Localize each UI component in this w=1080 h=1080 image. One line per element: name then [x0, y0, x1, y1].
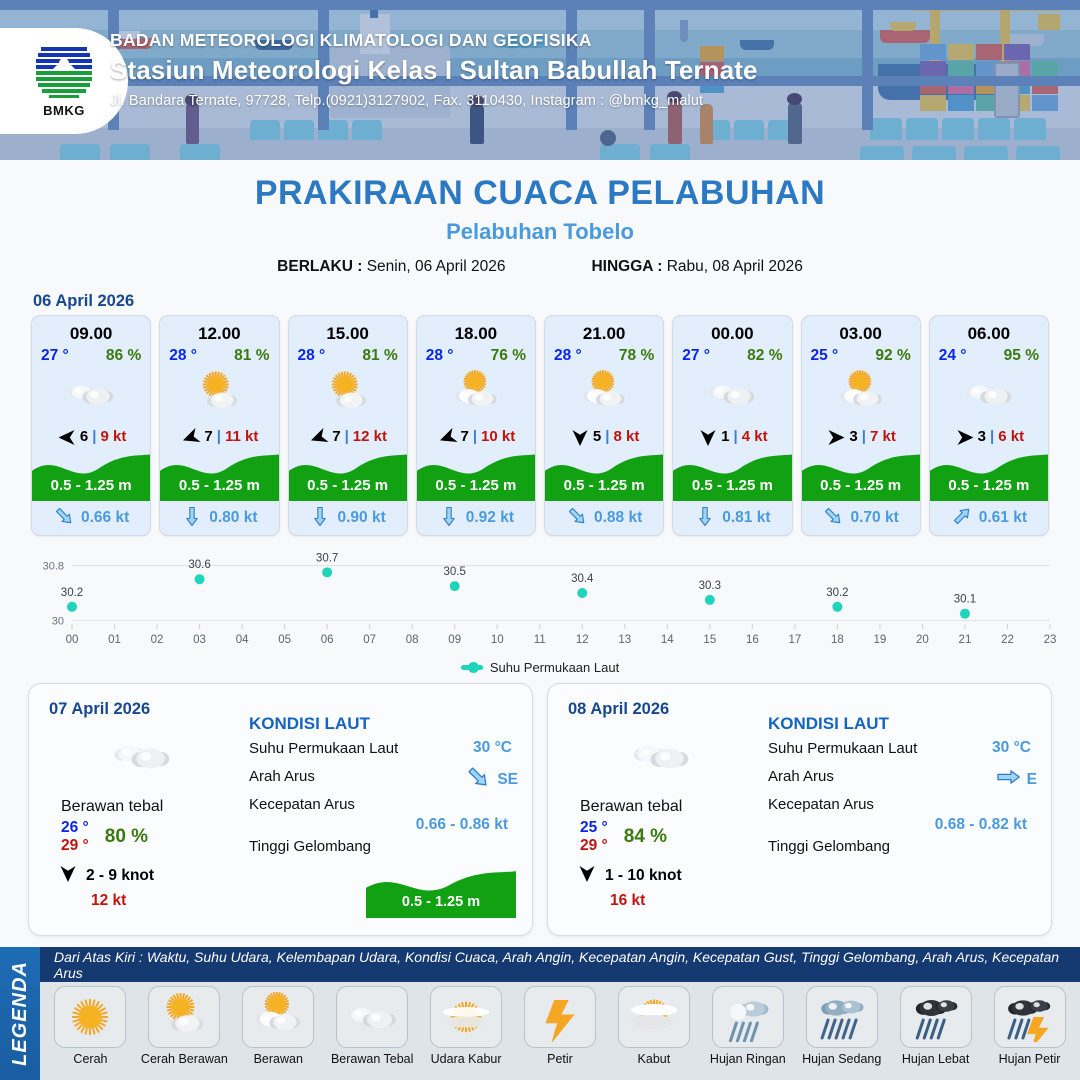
legend-item-label: Petir	[516, 1052, 605, 1066]
current-direction-arrow-icon	[822, 505, 844, 532]
card-wind-speed: 7	[332, 428, 340, 445]
card-time: 06.00	[930, 316, 1048, 344]
svg-text:00: 00	[66, 634, 79, 646]
wind-direction-arrow-icon	[825, 428, 845, 445]
card-current-speed: 0.61 kt	[979, 509, 1027, 527]
card-wave-block: 0.5 - 1.25 m	[545, 449, 663, 501]
card-current-speed: 0.90 kt	[337, 509, 385, 527]
svg-text:22: 22	[1001, 634, 1014, 646]
legend-item: Hujan Lebat	[891, 986, 980, 1066]
wave-height-label: Tinggi Gelombang	[768, 838, 890, 855]
weather-berawan-icon	[417, 367, 535, 421]
valid-until: HINGGA : Rabu, 08 April 2026	[591, 258, 802, 276]
legend-side-title-text: LEGENDA	[9, 961, 32, 1066]
card-humidity: 82 %	[747, 347, 782, 365]
svg-text:30.8: 30.8	[43, 560, 64, 572]
weather-cerah-berawan-icon	[289, 367, 407, 421]
daily-forecast-panel: 08 April 2026 Berawan tebal 25 ° 29 ° 84…	[547, 683, 1052, 936]
card-time: 03.00	[802, 316, 920, 344]
card-wave-block: 0.5 - 1.25 m	[289, 449, 407, 501]
legend-icon-row: Cerah Cerah Berawan Berawan Berawan Teba…	[40, 982, 1080, 1080]
valid-until-label: HINGGA :	[591, 258, 662, 275]
page-title: PRAKIRAAN CUACA PELABUHAN	[0, 174, 1080, 213]
card-wind-gust: 7 kt	[870, 428, 896, 445]
legend-item: Berawan	[234, 986, 323, 1066]
wind-direction-arrow-icon	[437, 428, 457, 445]
card-humidity: 92 %	[875, 347, 910, 365]
legend-item: Berawan Tebal	[328, 986, 417, 1066]
svg-text:15: 15	[703, 634, 716, 646]
weather-hujan-lebat-icon	[900, 986, 972, 1048]
svg-text:30.2: 30.2	[826, 587, 848, 599]
current-speed-value: 0.66 - 0.86 kt	[249, 816, 518, 834]
card-wind-gust: 6 kt	[998, 428, 1024, 445]
daily-forecast-row: 07 April 2026 Berawan tebal 26 ° 29 ° 80…	[0, 675, 1080, 936]
current-direction-arrow-icon	[53, 505, 75, 532]
sst-label: Suhu Permukaan Laut	[249, 740, 398, 757]
card-temperature: 28 °	[169, 347, 197, 365]
card-humidity: 86 %	[106, 347, 141, 365]
sea-conditions-title: KONDISI LAUT	[768, 714, 1037, 734]
day-wind-range: 1 - 10 knot	[605, 867, 682, 885]
svg-text:03: 03	[193, 634, 206, 646]
legend-side-title: LEGENDA	[0, 947, 40, 1080]
wind-gust-separator: |	[473, 428, 477, 445]
day-wind-range: 2 - 9 knot	[86, 867, 154, 885]
day-temp-min: 26 °	[61, 819, 89, 837]
wind-gust-separator: |	[345, 428, 349, 445]
svg-text:16: 16	[746, 634, 759, 646]
svg-text:23: 23	[1044, 634, 1057, 646]
svg-text:11: 11	[534, 634, 546, 646]
current-direction-arrow-icon	[438, 505, 460, 532]
contact-info: Jl. Bandara Ternate, 97728, Telp.(0921)3…	[110, 93, 758, 109]
card-current-speed: 0.80 kt	[209, 509, 257, 527]
legend-item-label: Berawan	[234, 1052, 323, 1066]
card-wave-height: 0.5 - 1.25 m	[160, 477, 278, 494]
svg-text:30.1: 30.1	[954, 594, 976, 606]
card-wave-block: 0.5 - 1.25 m	[802, 449, 920, 501]
legend-item: Cerah	[46, 986, 135, 1066]
weather-berawan-tebal-icon	[32, 367, 150, 421]
current-direction-arrow-icon	[995, 764, 1021, 795]
day-temp-max: 29 °	[61, 837, 89, 855]
current-direction-label: Arah Arus	[249, 768, 315, 785]
weather-berawan-tebal-icon	[336, 986, 408, 1048]
page-title-block: PRAKIRAAN CUACA PELABUHAN Pelabuhan Tobe…	[0, 160, 1080, 276]
svg-text:30: 30	[52, 616, 64, 628]
day-humidity: 80 %	[105, 826, 148, 848]
valid-from-label: BERLAKU :	[277, 258, 362, 275]
card-time: 09.00	[32, 316, 150, 344]
svg-text:09: 09	[448, 634, 461, 646]
current-direction-arrow-icon	[465, 764, 491, 795]
svg-text:04: 04	[236, 634, 249, 646]
bmkg-logo-text: BMKG	[29, 103, 99, 118]
svg-text:19: 19	[874, 634, 887, 646]
svg-text:06: 06	[321, 634, 334, 646]
day-humidity: 84 %	[624, 826, 667, 848]
day-wind-gust: 16 kt	[566, 892, 756, 910]
agency-name: BADAN METEOROLOGI KLIMATOLOGI DAN GEOFIS…	[110, 30, 758, 51]
current-direction-arrow-icon	[181, 505, 203, 532]
legend-item: Petir	[516, 986, 605, 1066]
hourly-card: 15.00 28 ° 81 % 7 | 12 kt 0.5 - 1.25 m 0…	[288, 315, 408, 536]
weather-berawan-tebal-icon	[930, 367, 1048, 421]
svg-text:02: 02	[151, 634, 164, 646]
card-wind-speed: 3	[849, 428, 857, 445]
hourly-card: 18.00 28 ° 76 % 7 | 10 kt 0.5 - 1.25 m	[416, 315, 536, 536]
svg-text:07: 07	[363, 634, 376, 646]
wave-height-label: Tinggi Gelombang	[249, 838, 371, 855]
card-humidity: 76 %	[491, 347, 526, 365]
legend-item-label: Hujan Ringan	[703, 1052, 792, 1066]
legend-item-label: Hujan Lebat	[891, 1052, 980, 1066]
wave-height-block: 0.5 - 1.25 m	[366, 866, 516, 918]
weather-kabut-icon	[618, 986, 690, 1048]
card-wave-block: 0.5 - 1.25 m	[673, 449, 791, 501]
legend-item-label: Udara Kabur	[422, 1052, 511, 1066]
validity-row: BERLAKU : Senin, 06 April 2026 HINGGA : …	[0, 258, 1080, 276]
weather-cerah-icon	[54, 986, 126, 1048]
svg-text:08: 08	[406, 634, 419, 646]
card-humidity: 81 %	[234, 347, 269, 365]
card-time: 21.00	[545, 316, 663, 344]
legend-item-label: Kabut	[609, 1052, 698, 1066]
card-wind-gust: 4 kt	[742, 428, 768, 445]
card-time: 18.00	[417, 316, 535, 344]
legend-note-bar: Dari Atas Kiri : Waktu, Suhu Udara, Kele…	[40, 947, 1080, 982]
svg-text:30.3: 30.3	[699, 580, 721, 592]
legend-item: Kabut	[609, 986, 698, 1066]
card-wave-block: 0.5 - 1.25 m	[32, 449, 150, 501]
legend-item-label: Berawan Tebal	[328, 1052, 417, 1066]
current-speed-label: Kecepatan Arus	[768, 796, 874, 813]
card-wind-gust: 12 kt	[353, 428, 387, 445]
card-current-speed: 0.81 kt	[722, 509, 770, 527]
svg-text:10: 10	[491, 634, 504, 646]
daily-forecast-panel: 07 April 2026 Berawan tebal 26 ° 29 ° 80…	[28, 683, 533, 936]
current-direction-value: SE	[497, 771, 518, 789]
svg-text:30.5: 30.5	[444, 566, 466, 578]
card-wave-height: 0.5 - 1.25 m	[32, 477, 150, 494]
card-wave-height: 0.5 - 1.25 m	[545, 477, 663, 494]
card-temperature: 27 °	[682, 347, 710, 365]
svg-text:21: 21	[959, 634, 972, 646]
weather-berawan-tebal-icon	[673, 367, 791, 421]
banner-text-block: BADAN METEOROLOGI KLIMATOLOGI DAN GEOFIS…	[110, 30, 758, 109]
svg-text:17: 17	[788, 634, 801, 646]
card-wind-gust: 11 kt	[225, 428, 258, 445]
wave-height-value: 0.5 - 1.25 m	[366, 894, 516, 910]
svg-text:18: 18	[831, 634, 844, 646]
day-temp-min: 25 °	[580, 819, 608, 837]
wind-gust-separator: |	[92, 428, 96, 445]
wind-gust-separator: |	[862, 428, 866, 445]
legend-item: Udara Kabur	[422, 986, 511, 1066]
card-wind-speed: 7	[461, 428, 469, 445]
card-wind-speed: 7	[204, 428, 212, 445]
svg-text:12: 12	[576, 634, 589, 646]
wind-direction-arrow-icon	[569, 428, 589, 445]
hourly-forecast-row: 09.00 27 ° 86 % 6 | 9 kt 0.5 - 1.25 m	[0, 315, 1080, 536]
hourly-card: 03.00 25 ° 92 % 3 | 7 kt 0.5 - 1.25 m	[801, 315, 921, 536]
wind-direction-arrow-icon	[180, 428, 200, 445]
weather-petir-icon	[524, 986, 596, 1048]
card-wave-height: 0.5 - 1.25 m	[673, 477, 791, 494]
card-wind-speed: 3	[978, 428, 986, 445]
chart-legend-label: Suhu Permukaan Laut	[490, 660, 619, 675]
card-time: 00.00	[673, 316, 791, 344]
day-date: 08 April 2026	[568, 700, 669, 719]
card-current-speed: 0.66 kt	[81, 509, 129, 527]
card-wind-gust: 8 kt	[613, 428, 639, 445]
svg-text:20: 20	[916, 634, 929, 646]
current-speed-label: Kecepatan Arus	[249, 796, 355, 813]
card-temperature: 25 °	[811, 347, 839, 365]
card-wave-block: 0.5 - 1.25 m	[160, 449, 278, 501]
wind-gust-separator: |	[217, 428, 221, 445]
card-temperature: 28 °	[554, 347, 582, 365]
legend-strip: LEGENDA Dari Atas Kiri : Waktu, Suhu Uda…	[0, 947, 1080, 1080]
svg-text:13: 13	[618, 634, 631, 646]
svg-text:30.7: 30.7	[316, 552, 338, 564]
legend-item-label: Cerah Berawan	[140, 1052, 229, 1066]
weather-berawan-icon	[242, 986, 314, 1048]
sst-chart: 3030.80001020304050607080910111213141516…	[20, 548, 1060, 658]
valid-from-value: Senin, 06 April 2026	[367, 258, 506, 275]
card-wind-gust: 10 kt	[481, 428, 515, 445]
card-wind-speed: 1	[721, 428, 729, 445]
wind-direction-arrow-icon	[954, 428, 974, 445]
weather-cerah-berawan-icon	[148, 986, 220, 1048]
weather-berawan-icon	[545, 367, 663, 421]
hourly-card: 06.00 24 ° 95 % 3 | 6 kt 0.5 - 1.25 m	[929, 315, 1049, 536]
weather-cerah-berawan-icon	[160, 367, 278, 421]
current-direction-arrow-icon	[309, 505, 331, 532]
weather-hujan-petir-icon	[994, 986, 1066, 1048]
sea-conditions-title: KONDISI LAUT	[249, 714, 518, 734]
weather-udara-kabur-icon	[430, 986, 502, 1048]
day-wind-gust: 12 kt	[47, 892, 237, 910]
card-wave-height: 0.5 - 1.25 m	[417, 477, 535, 494]
card-temperature: 24 °	[939, 347, 967, 365]
chart-legend-marker-icon	[461, 665, 483, 670]
sst-value: 30 °C	[473, 739, 512, 757]
weather-berawan-icon	[802, 367, 920, 421]
bmkg-logo: BMKG	[0, 28, 128, 134]
page-subtitle: Pelabuhan Tobelo	[0, 219, 1080, 245]
current-speed-value: 0.68 - 0.82 kt	[768, 816, 1037, 834]
weather-hujan-ringan-icon	[712, 986, 784, 1048]
valid-until-value: Rabu, 08 April 2026	[667, 258, 803, 275]
card-time: 15.00	[289, 316, 407, 344]
card-humidity: 78 %	[619, 347, 654, 365]
hourly-card: 21.00 28 ° 78 % 5 | 8 kt 0.5 - 1.25 m	[544, 315, 664, 536]
wind-direction-arrow-icon	[308, 428, 328, 445]
wind-direction-arrow-icon	[56, 428, 76, 445]
card-wave-height: 0.5 - 1.25 m	[930, 477, 1048, 494]
legend-item-label: Hujan Sedang	[797, 1052, 886, 1066]
card-humidity: 81 %	[362, 347, 397, 365]
legend-item-label: Cerah	[46, 1052, 135, 1066]
sst-label: Suhu Permukaan Laut	[768, 740, 917, 757]
wind-direction-arrow-icon	[57, 864, 79, 888]
wind-direction-arrow-icon	[697, 428, 717, 445]
hourly-card: 12.00 28 ° 81 % 7 | 11 kt 0.5 - 1.25 m 0…	[159, 315, 279, 536]
legend-item-label: Hujan Petir	[985, 1052, 1074, 1066]
current-direction-arrow-icon	[951, 505, 973, 532]
day-condition: Berawan tebal	[566, 798, 756, 816]
wind-gust-separator: |	[605, 428, 609, 445]
card-humidity: 95 %	[1004, 347, 1039, 365]
card-wind-speed: 6	[80, 428, 88, 445]
legend-item: Hujan Ringan	[703, 986, 792, 1066]
day-temp-max: 29 °	[580, 837, 608, 855]
weather-hujan-sedang-icon	[806, 986, 878, 1048]
card-current-speed: 0.92 kt	[466, 509, 514, 527]
card-wind-gust: 9 kt	[100, 428, 126, 445]
card-wind-speed: 5	[593, 428, 601, 445]
sst-value: 30 °C	[992, 739, 1031, 757]
svg-text:05: 05	[278, 634, 291, 646]
wind-direction-arrow-icon	[576, 864, 598, 888]
current-direction-arrow-icon	[566, 505, 588, 532]
legend-item: Hujan Petir	[985, 986, 1074, 1066]
svg-text:01: 01	[108, 634, 121, 646]
header-banner: BMKG BADAN METEOROLOGI KLIMATOLOGI DAN G…	[0, 0, 1080, 160]
hourly-card: 00.00 27 ° 82 % 1 | 4 kt 0.5 - 1.25 m	[672, 315, 792, 536]
card-temperature: 28 °	[298, 347, 326, 365]
station-name: Stasiun Meteorologi Kelas I Sultan Babul…	[110, 55, 758, 86]
wind-gust-separator: |	[734, 428, 738, 445]
card-wave-block: 0.5 - 1.25 m	[930, 449, 1048, 501]
svg-text:30.4: 30.4	[571, 573, 594, 585]
legend-item: Cerah Berawan	[140, 986, 229, 1066]
svg-text:30.2: 30.2	[61, 587, 83, 599]
card-current-speed: 0.70 kt	[850, 509, 898, 527]
legend-note-text: Dari Atas Kiri : Waktu, Suhu Udara, Kele…	[54, 949, 1080, 981]
card-temperature: 28 °	[426, 347, 454, 365]
chart-legend: Suhu Permukaan Laut	[0, 660, 1080, 675]
day-date: 07 April 2026	[49, 700, 150, 719]
hourly-date-label: 06 April 2026	[33, 292, 1080, 311]
card-temperature: 27 °	[41, 347, 69, 365]
legend-item: Hujan Sedang	[797, 986, 886, 1066]
hourly-card: 09.00 27 ° 86 % 6 | 9 kt 0.5 - 1.25 m	[31, 315, 151, 536]
svg-text:14: 14	[661, 634, 674, 646]
bmkg-logo-mark	[33, 44, 95, 102]
current-direction-value: E	[1027, 771, 1037, 789]
weather-berawan-tebal-icon	[566, 728, 756, 784]
current-direction-label: Arah Arus	[768, 768, 834, 785]
card-wave-height: 0.5 - 1.25 m	[802, 477, 920, 494]
current-direction-arrow-icon	[694, 505, 716, 532]
svg-text:30.6: 30.6	[188, 559, 210, 571]
card-current-speed: 0.88 kt	[594, 509, 642, 527]
wind-gust-separator: |	[990, 428, 994, 445]
weather-berawan-tebal-icon	[47, 728, 237, 784]
card-wave-height: 0.5 - 1.25 m	[289, 477, 407, 494]
valid-from: BERLAKU : Senin, 06 April 2026	[277, 258, 505, 276]
day-condition: Berawan tebal	[47, 798, 237, 816]
card-time: 12.00	[160, 316, 278, 344]
card-wave-block: 0.5 - 1.25 m	[417, 449, 535, 501]
